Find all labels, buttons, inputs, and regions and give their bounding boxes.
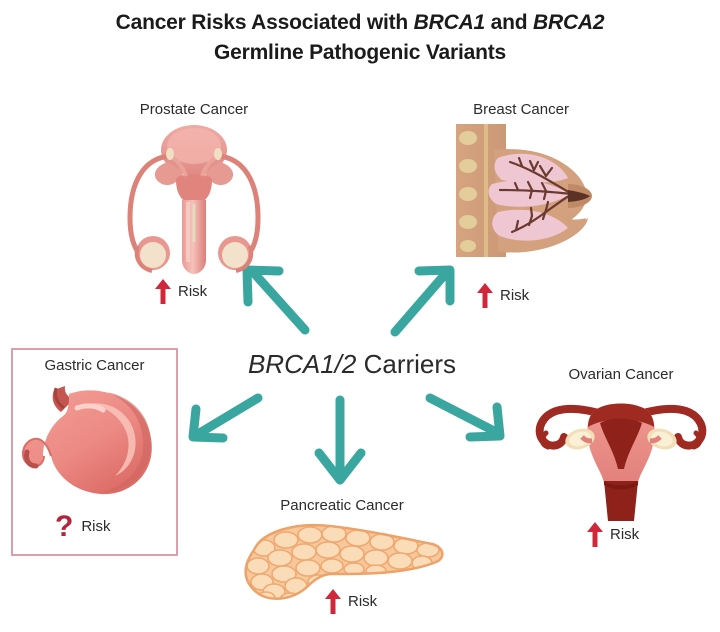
title-gene-brca2: BRCA2 xyxy=(533,11,604,34)
node-title-breast: Breast Cancer xyxy=(428,100,614,119)
center-node-label: BRCA1/2 Carriers xyxy=(212,348,492,380)
risk-indicator-ovarian: Risk xyxy=(586,521,639,548)
title-line-2: Germline Pathogenic Variants xyxy=(214,41,506,64)
risk-indicator-pancreatic: Risk xyxy=(324,588,377,615)
title-line-1: Cancer Risks Associated with BRCA1 and B… xyxy=(116,11,605,34)
node-title-ovarian: Ovarian Cancer xyxy=(528,365,714,384)
figure-canvas: Cancer Risks Associated with BRCA1 and B… xyxy=(0,0,720,632)
node-title-pancreatic: Pancreatic Cancer xyxy=(236,496,448,515)
node-title-prostate: Prostate Cancer xyxy=(108,100,280,119)
arrow-to-ovarian-icon xyxy=(430,398,500,437)
risk-indicator-prostate: Risk xyxy=(154,278,207,305)
risk-label-breast: Risk xyxy=(500,287,529,305)
title-text-pre: Cancer Risks Associated with xyxy=(116,11,414,34)
uterus-ovaries-organ-illustration-icon xyxy=(528,387,714,532)
breast-organ-illustration-icon xyxy=(428,122,614,287)
figure-title: Cancer Risks Associated with BRCA1 and B… xyxy=(0,8,720,68)
node-pancreatic-cancer: Pancreatic Cancer xyxy=(236,496,448,626)
question-mark-icon: ? xyxy=(55,514,73,540)
node-ovarian-cancer: Ovarian Cancer xyxy=(528,365,714,565)
node-title-gastric: Gastric Cancer xyxy=(11,356,178,375)
arrow-to-pancreatic-icon xyxy=(319,400,361,480)
up-arrow-icon xyxy=(154,278,172,305)
risk-label-pancreatic: Risk xyxy=(348,593,377,611)
node-breast-cancer: Breast Cancer xyxy=(428,100,614,305)
stomach-organ-illustration-icon xyxy=(11,378,178,513)
risk-indicator-breast: Risk xyxy=(476,282,529,309)
risk-label-prostate: Risk xyxy=(178,283,207,301)
node-prostate-cancer: Prostate Cancer xyxy=(108,100,280,305)
up-arrow-icon xyxy=(586,521,604,548)
center-carriers-label: Carriers xyxy=(356,349,456,379)
title-text-mid: and xyxy=(485,11,533,34)
title-gene-brca1: BRCA1 xyxy=(414,11,485,34)
risk-label-gastric: Risk xyxy=(81,518,110,536)
risk-indicator-gastric: ? Risk xyxy=(55,514,111,540)
up-arrow-icon xyxy=(324,588,342,615)
arrow-to-gastric-icon xyxy=(193,398,258,438)
node-gastric-cancer: Gastric Cancer ? xyxy=(11,356,178,552)
prostate-organ-illustration-icon xyxy=(108,122,280,282)
risk-label-ovarian: Risk xyxy=(610,526,639,544)
up-arrow-icon xyxy=(476,282,494,309)
center-gene-label: BRCA1/2 xyxy=(248,349,356,379)
